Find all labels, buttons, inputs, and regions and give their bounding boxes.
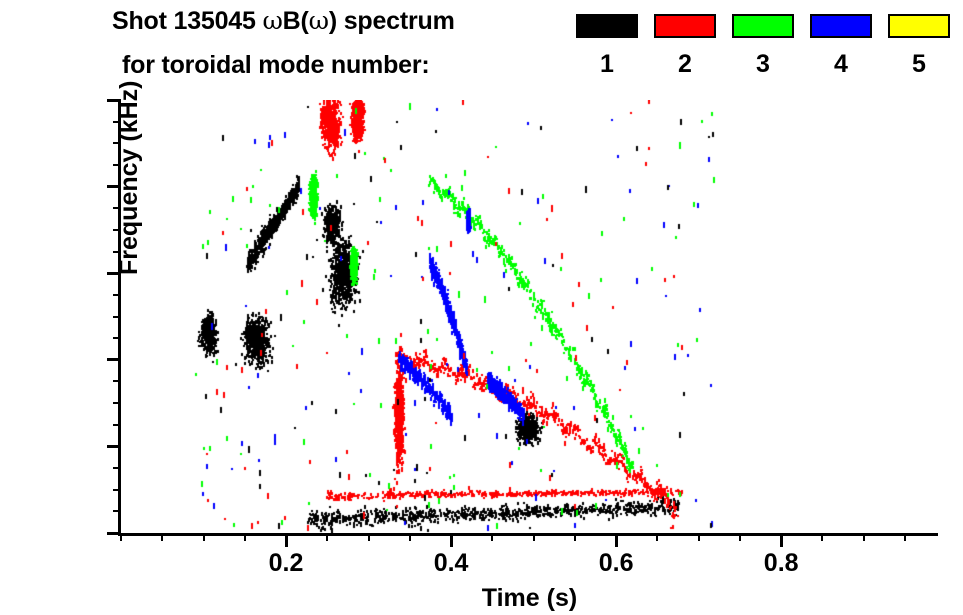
legend: 12345 bbox=[576, 0, 963, 98]
x-tick-major bbox=[450, 533, 453, 547]
y-tick-minor bbox=[113, 316, 121, 318]
x-tick-minor bbox=[533, 533, 535, 541]
x-tick-major bbox=[615, 533, 618, 547]
x-tick-label: 0.4 bbox=[406, 549, 496, 578]
x-tick-minor bbox=[698, 533, 700, 541]
y-tick-minor bbox=[113, 424, 121, 426]
y-tick-major bbox=[107, 358, 121, 361]
x-tick-minor bbox=[409, 533, 411, 541]
x-tick-label: 0.6 bbox=[571, 549, 661, 578]
x-tick-label: 0.2 bbox=[241, 549, 331, 578]
y-tick-minor bbox=[113, 294, 121, 296]
x-axis-ticks bbox=[121, 533, 938, 549]
title-text-mid: B( bbox=[283, 7, 309, 35]
title-text-post: ) spectrum bbox=[329, 7, 455, 35]
y-tick-major bbox=[107, 532, 121, 535]
y-tick-major bbox=[107, 445, 121, 448]
x-tick-major bbox=[780, 533, 783, 547]
legend-mode-2-swatch bbox=[654, 14, 716, 38]
x-tick-minor bbox=[656, 533, 658, 541]
page-subtitle: for toroidal mode number: bbox=[122, 51, 430, 80]
spectrogram-canvas bbox=[121, 100, 938, 533]
x-tick-minor bbox=[863, 533, 865, 541]
x-tick-minor bbox=[821, 533, 823, 541]
y-tick-minor bbox=[113, 467, 121, 469]
x-tick-label: 0.8 bbox=[736, 549, 826, 578]
x-tick-minor bbox=[326, 533, 328, 541]
legend-mode-3-swatch bbox=[732, 14, 794, 38]
x-tick-minor bbox=[574, 533, 576, 541]
legend-mode-5-label: 5 bbox=[888, 50, 950, 79]
legend-mode-1-label: 1 bbox=[576, 50, 638, 79]
omega-symbol-2: ω bbox=[309, 6, 329, 35]
legend-mode-5-swatch bbox=[888, 14, 950, 38]
page-title: Shot 135045 ωB(ω) spectrum bbox=[112, 6, 455, 36]
y-tick-minor bbox=[113, 489, 121, 491]
x-tick-major bbox=[285, 533, 288, 547]
y-axis-title: Frequency (kHz) bbox=[115, 81, 144, 275]
plot-area: 020406080100 0.20.40.60.8 Frequency (kHz… bbox=[118, 100, 938, 536]
x-tick-minor bbox=[368, 533, 370, 541]
y-tick-minor bbox=[113, 337, 121, 339]
x-tick-minor bbox=[739, 533, 741, 541]
y-tick-minor bbox=[113, 402, 121, 404]
x-tick-minor bbox=[120, 533, 122, 541]
y-tick-minor bbox=[113, 510, 121, 512]
x-axis-title: Time (s) bbox=[121, 584, 938, 613]
title-text-pre: Shot 135045 bbox=[112, 7, 262, 35]
legend-mode-4-swatch bbox=[810, 14, 872, 38]
x-tick-minor bbox=[161, 533, 163, 541]
x-tick-minor bbox=[244, 533, 246, 541]
figure-root: Shot 135045 ωB(ω) spectrum for toroidal … bbox=[0, 0, 963, 615]
legend-mode-3-label: 3 bbox=[732, 50, 794, 79]
legend-mode-1-swatch bbox=[576, 14, 638, 38]
x-tick-minor bbox=[203, 533, 205, 541]
omega-symbol-1: ω bbox=[262, 6, 282, 35]
x-tick-minor bbox=[491, 533, 493, 541]
x-tick-minor bbox=[904, 533, 906, 541]
legend-mode-2-label: 2 bbox=[654, 50, 716, 79]
legend-mode-4-label: 4 bbox=[810, 50, 872, 79]
y-tick-minor bbox=[113, 380, 121, 382]
